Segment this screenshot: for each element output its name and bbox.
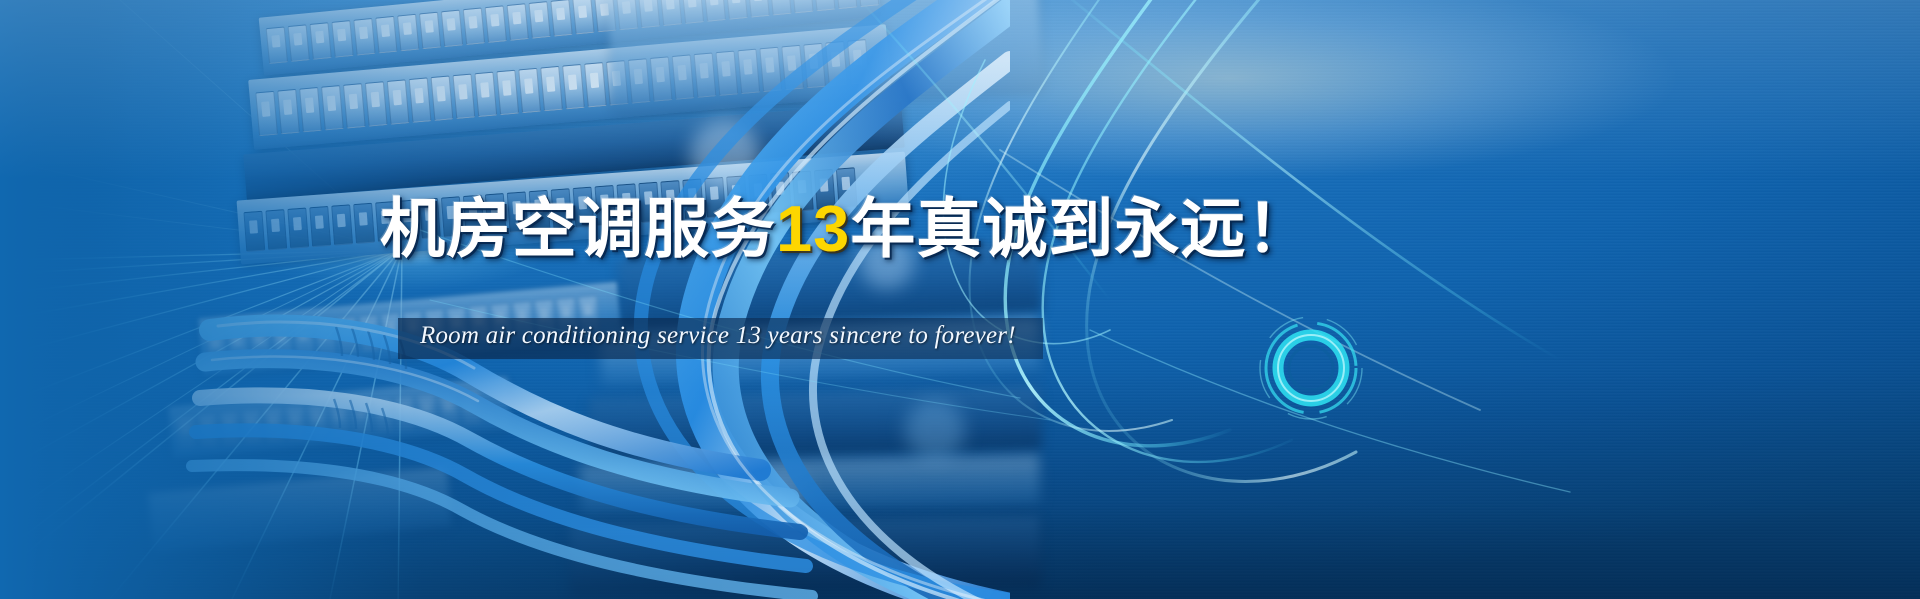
subtitle-text: Room air conditioning service 13 years s… [420,322,1016,350]
headline-years-number: 13 [776,192,850,265]
hero-banner: 机房空调服务13年真诚到永远！ Room air conditioning se… [0,0,1920,599]
headline-text-after: 年真诚到永远！ [850,192,1312,265]
page-title: 机房空调服务13年真诚到永远！ [380,196,1312,261]
tech-hud-ring-icon [1255,312,1367,429]
headline-text-before: 机房空调服务 [380,192,776,265]
cyan-swoosh-arcs [0,0,1920,599]
